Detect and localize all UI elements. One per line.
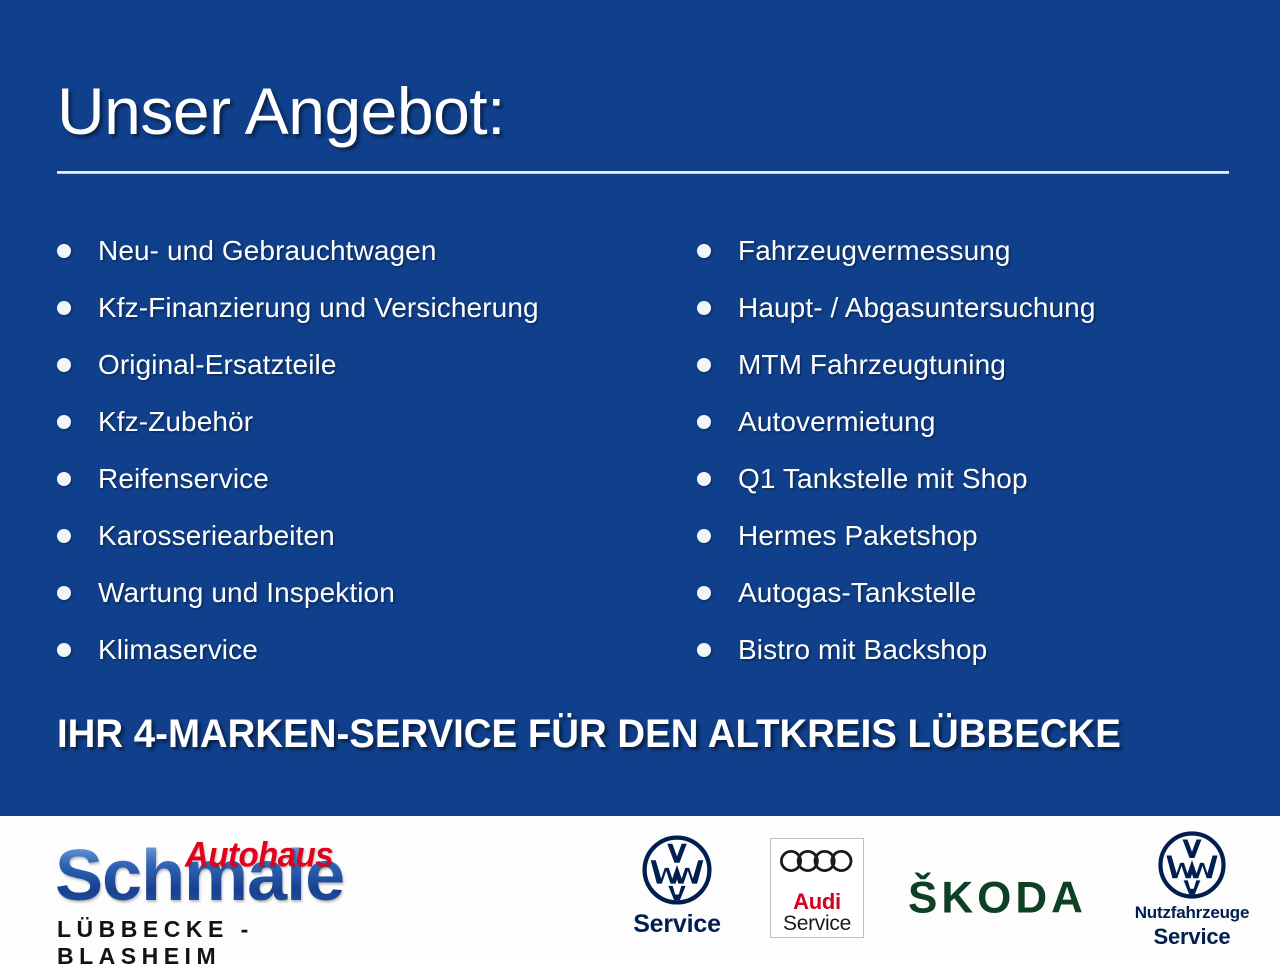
- brand-vw-service: Service: [614, 834, 740, 939]
- brand-caption: Service: [771, 913, 863, 935]
- page-title: Unser Angebot:: [57, 78, 505, 144]
- list-item-label: Q1 Tankstelle mit Shop: [738, 463, 1028, 495]
- bullet-dot-icon: [57, 301, 71, 315]
- brand-skoda-wordmark: ŠKODA: [908, 873, 1087, 924]
- list-item: Reifenservice: [57, 450, 677, 507]
- bullet-dot-icon: [57, 643, 71, 657]
- bullet-dot-icon: [697, 643, 711, 657]
- list-item: Hermes Paketshop: [697, 507, 1257, 564]
- list-item: Bistro mit Backshop: [697, 621, 1257, 678]
- brand-caption: Service: [614, 910, 740, 939]
- services-left-column: Neu- und Gebrauchtwagen Kfz-Finanzierung…: [57, 222, 677, 678]
- list-item-label: Autovermietung: [738, 406, 936, 438]
- brand-vw-nutzfahrzeuge-service: Nutzfahrzeuge Service: [1122, 830, 1262, 950]
- list-item-label: Kfz-Zubehör: [98, 406, 253, 438]
- list-item-label: Bistro mit Backshop: [738, 634, 987, 666]
- list-item-label: Fahrzeugvermessung: [738, 235, 1011, 267]
- list-item-label: Reifenservice: [98, 463, 269, 495]
- list-item-label: Kfz-Finanzierung und Versicherung: [98, 292, 539, 324]
- bullet-dot-icon: [697, 358, 711, 372]
- blue-content-panel: Unser Angebot: Neu- und Gebrauchtwagen K…: [0, 0, 1280, 816]
- bullet-dot-icon: [697, 415, 711, 429]
- list-item: Haupt- / Abgasuntersuchung: [697, 279, 1257, 336]
- list-item: Karosseriearbeiten: [57, 507, 677, 564]
- list-item: Fahrzeugvermessung: [697, 222, 1257, 279]
- list-item-label: Original-Ersatzteile: [98, 349, 337, 381]
- dealer-logo: Schmale Autohaus LÜBBECKE - BLASHEIM: [55, 834, 425, 946]
- bullet-dot-icon: [57, 415, 71, 429]
- bullet-dot-icon: [57, 244, 71, 258]
- list-item: MTM Fahrzeugtuning: [697, 336, 1257, 393]
- bullet-dot-icon: [57, 472, 71, 486]
- list-item-label: Klimaservice: [98, 634, 258, 666]
- audi-rings-icon: [779, 849, 855, 873]
- list-item: Klimaservice: [57, 621, 677, 678]
- title-divider: [57, 171, 1229, 174]
- list-item-label: Hermes Paketshop: [738, 520, 978, 552]
- brand-caption: Service: [1122, 924, 1262, 950]
- bullet-dot-icon: [57, 358, 71, 372]
- list-item: Kfz-Zubehör: [57, 393, 677, 450]
- vw-logo-icon: [1157, 830, 1227, 900]
- list-item: Wartung und Inspektion: [57, 564, 677, 621]
- brand-subline: Nutzfahrzeuge: [1122, 903, 1262, 923]
- list-item-label: Haupt- / Abgasuntersuchung: [738, 292, 1096, 324]
- services-columns: Neu- und Gebrauchtwagen Kfz-Finanzierung…: [0, 222, 1280, 682]
- bullet-dot-icon: [697, 472, 711, 486]
- bullet-dot-icon: [697, 529, 711, 543]
- bullet-dot-icon: [697, 586, 711, 600]
- dealer-locations: LÜBBECKE - BLASHEIM: [57, 916, 425, 970]
- offer-poster: Unser Angebot: Neu- und Gebrauchtwagen K…: [0, 0, 1280, 960]
- tagline: IHR 4-MARKEN-SERVICE FÜR DEN ALTKREIS LÜ…: [57, 712, 1180, 757]
- list-item: Original-Ersatzteile: [57, 336, 677, 393]
- list-item: Neu- und Gebrauchtwagen: [57, 222, 677, 279]
- list-item-label: Autogas-Tankstelle: [738, 577, 976, 609]
- list-item-label: Karosseriearbeiten: [98, 520, 335, 552]
- list-item: Autogas-Tankstelle: [697, 564, 1257, 621]
- list-item: Autovermietung: [697, 393, 1257, 450]
- audi-brand-name: Audi: [771, 890, 863, 913]
- bullet-dot-icon: [697, 244, 711, 258]
- services-right-column: Fahrzeugvermessung Haupt- / Abgasuntersu…: [697, 222, 1257, 678]
- list-item: Q1 Tankstelle mit Shop: [697, 450, 1257, 507]
- bullet-dot-icon: [57, 529, 71, 543]
- bullet-dot-icon: [57, 586, 71, 600]
- bullet-dot-icon: [697, 301, 711, 315]
- list-item-label: MTM Fahrzeugtuning: [738, 349, 1006, 381]
- dealer-prefix: Autohaus: [185, 834, 333, 875]
- list-item-label: Wartung und Inspektion: [98, 577, 395, 609]
- list-item-label: Neu- und Gebrauchtwagen: [98, 235, 437, 267]
- list-item: Kfz-Finanzierung und Versicherung: [57, 279, 677, 336]
- brand-footer: Schmale Autohaus LÜBBECKE - BLASHEIM Ser…: [0, 816, 1280, 960]
- brand-audi-service: Audi Service: [770, 838, 864, 938]
- vw-logo-icon: [641, 834, 713, 906]
